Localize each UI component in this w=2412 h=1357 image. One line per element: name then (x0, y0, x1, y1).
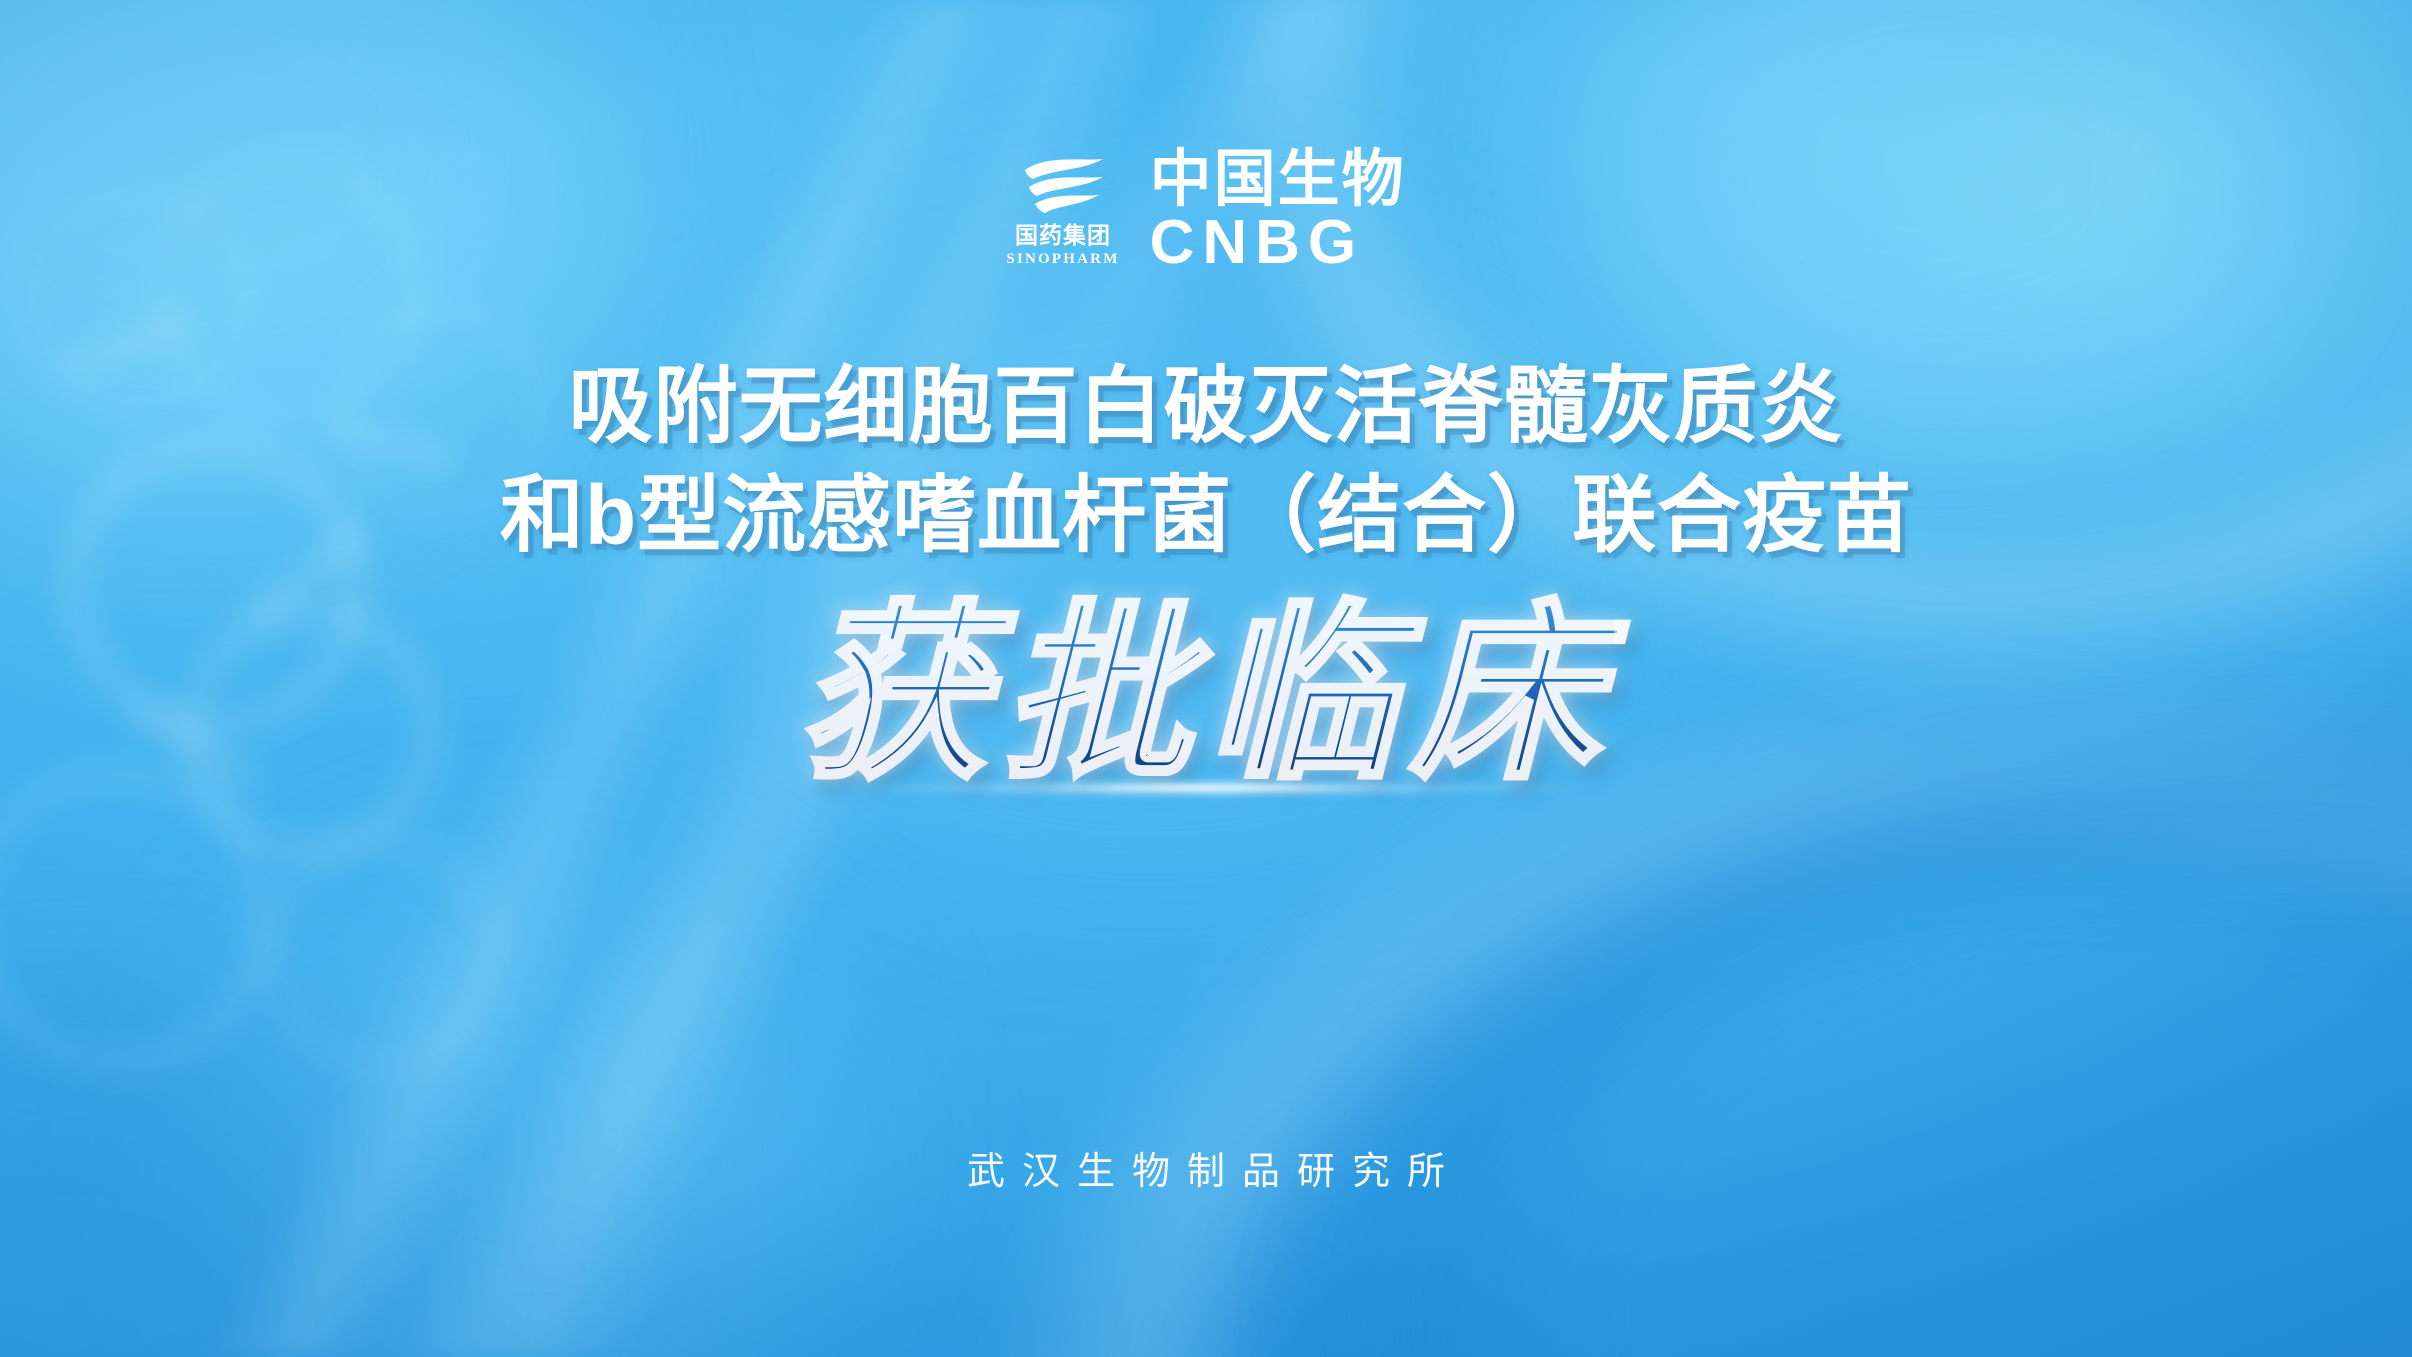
poster-content: 国药集团 SINOPHARM 中国生物 CNBG 吸附无细胞百白破灭活脊髓灰质炎… (0, 0, 2412, 1357)
organization-name: 武汉生物制品研究所 (0, 1140, 2412, 1195)
headline-text: 获批临床 (798, 596, 1614, 796)
vaccine-name-line-1: 吸附无细胞百白破灭活脊髓灰质炎 (500, 352, 1912, 461)
vaccine-name-block: 吸附无细胞百白破灭活脊髓灰质炎 和b型流感嗜血杆菌（结合）联合疫苗 (500, 352, 1912, 570)
cnbg-english-name: CNBG (1150, 213, 1406, 274)
brand-logo-lockup: 国药集团 SINOPHARM 中国生物 CNBG (1006, 150, 1405, 274)
cnbg-chinese-name: 中国生物 (1150, 150, 1406, 211)
sinopharm-english-name: SINOPHARM (1006, 252, 1119, 267)
poster-canvas: 国药集团 SINOPHARM 中国生物 CNBG 吸附无细胞百白破灭活脊髓灰质炎… (0, 0, 2412, 1357)
footer-block: 武汉生物制品研究所 (0, 1140, 2412, 1195)
vaccine-name-line-2: 和b型流感嗜血杆菌（结合）联合疫苗 (500, 461, 1912, 570)
three-wave-stripes-icon (1017, 157, 1109, 219)
cnbg-logo: 中国生物 CNBG (1150, 150, 1406, 274)
headline-block: 获批临床 (798, 596, 1614, 796)
sinopharm-chinese-name: 国药集团 (1015, 224, 1111, 247)
sinopharm-logo: 国药集团 SINOPHARM (1006, 157, 1119, 267)
